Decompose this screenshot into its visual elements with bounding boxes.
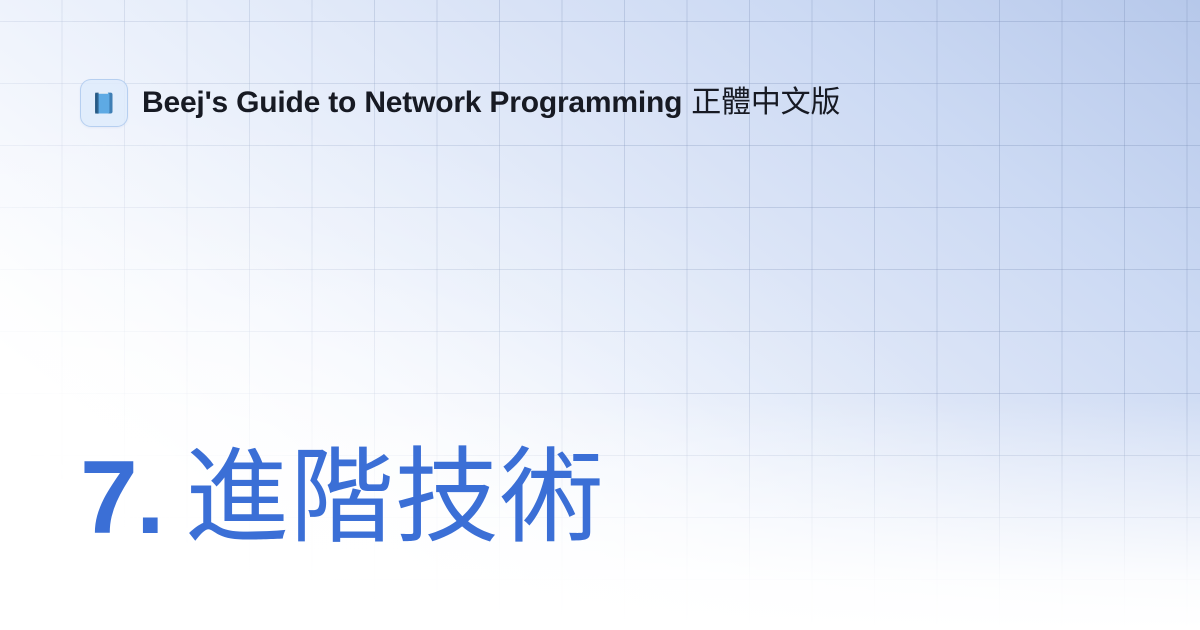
brand-title-en: Beej's Guide to Network Programming (142, 88, 682, 118)
brand-title: Beej's Guide to Network Programming 正體中文… (142, 88, 840, 118)
brand-header: Beej's Guide to Network Programming 正體中文… (80, 79, 840, 127)
blue-book-icon (90, 89, 118, 117)
chapter-heading: 7. 進階技術 (80, 440, 605, 556)
chapter-title: 進階技術 (185, 440, 605, 556)
chapter-number: 7. (80, 440, 163, 556)
brand-badge (80, 79, 128, 127)
cover-card: Beej's Guide to Network Programming 正體中文… (0, 0, 1200, 630)
brand-title-cjk: 正體中文版 (691, 88, 840, 118)
